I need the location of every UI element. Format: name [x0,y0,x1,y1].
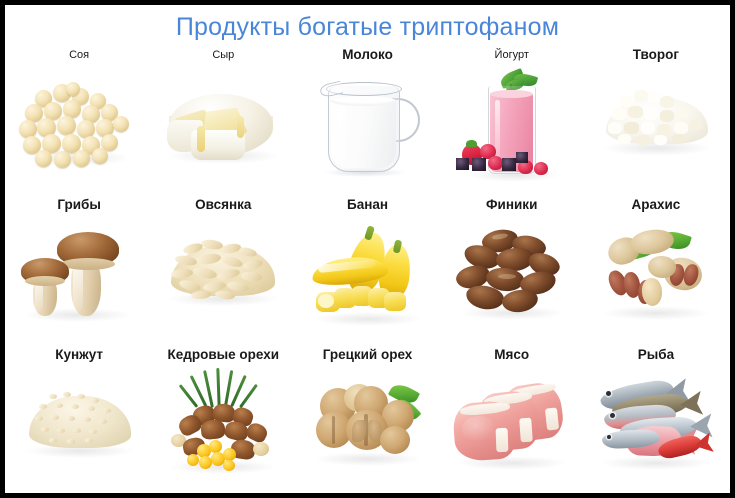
food-cell-soy[interactable]: Соя [7,46,151,196]
cheese-image [153,64,293,188]
food-label-sesame: Кунжут [55,346,103,364]
food-label-soy: Соя [69,46,89,64]
food-cell-walnuts[interactable]: Грецкий орех [295,346,439,496]
yogurt-smoothie-image [442,64,582,188]
dates-image [442,214,582,338]
food-cell-dates[interactable]: Финики [440,196,584,346]
food-cell-cheese[interactable]: Сыр [151,46,295,196]
food-label-milk: Молоко [342,46,393,64]
food-row-2: Грибы Овсянка [7,196,728,346]
food-cell-milk[interactable]: Молоко [295,46,439,196]
food-cell-meat[interactable]: Мясо [440,346,584,496]
food-label-walnuts: Грецкий орех [323,346,413,364]
food-label-banana: Банан [347,196,388,214]
tryptophan-foods-poster: Продукты богатые триптофаном Соя [0,0,735,498]
oatmeal-image [153,214,293,338]
soybeans-image [9,64,149,188]
milk-jug-image [298,64,438,188]
food-cell-cottage-cheese[interactable]: Творог [584,46,728,196]
food-label-meat: Мясо [494,346,529,364]
cottage-cheese-image [586,64,726,188]
fish-image [586,364,726,488]
walnuts-image [298,364,438,488]
food-row-3: Кунжут [7,346,728,496]
pine-nuts-image [153,364,293,488]
food-row-1: Соя [7,46,728,196]
food-label-mushrooms: Грибы [57,196,101,214]
bananas-image [298,214,438,338]
food-cell-pine-nuts[interactable]: Кедровые орехи [151,346,295,496]
mushrooms-image [9,214,149,338]
food-label-dates: Финики [486,196,537,214]
page-title: Продукты богатые триптофаном [5,5,730,42]
peanuts-image [586,214,726,338]
food-cell-sesame[interactable]: Кунжут [7,346,151,496]
food-label-peanuts: Арахис [632,196,681,214]
food-label-cheese: Сыр [212,46,234,64]
food-label-fish: Рыба [638,346,674,364]
food-cell-banana[interactable]: Банан [295,196,439,346]
food-label-oatmeal: Овсянка [195,196,251,214]
food-label-cottage-cheese: Творог [633,46,679,64]
food-label-pine-nuts: Кедровые орехи [168,346,280,364]
food-cell-mushrooms[interactable]: Грибы [7,196,151,346]
sesame-seeds-image [9,364,149,488]
food-label-yogurt: Йогурт [495,46,529,64]
food-cell-peanuts[interactable]: Арахис [584,196,728,346]
food-cell-yogurt[interactable]: Йогурт [440,46,584,196]
food-grid: Соя [5,42,730,496]
meat-chops-image [442,364,582,488]
food-cell-fish[interactable]: Рыба [584,346,728,496]
food-cell-oatmeal[interactable]: Овсянка [151,196,295,346]
